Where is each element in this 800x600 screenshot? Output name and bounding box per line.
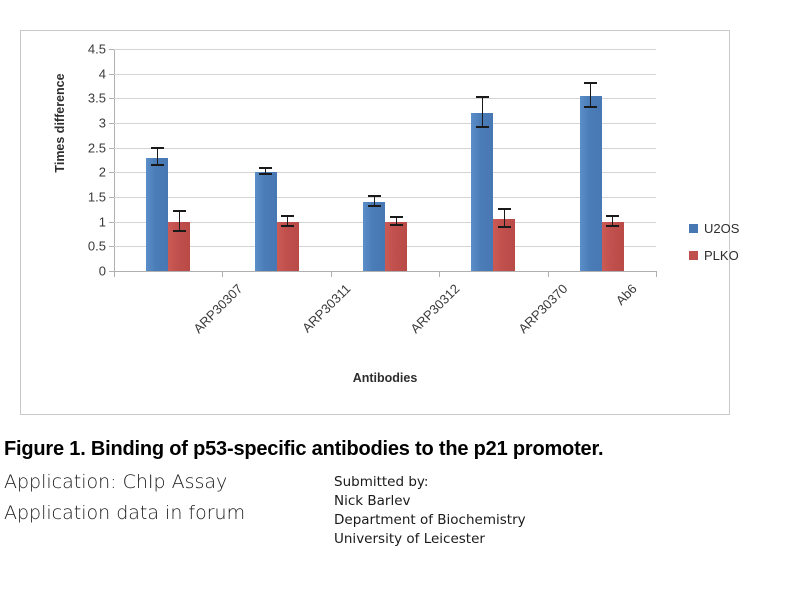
submitter-info: Submitted by: Nick Barlev Department of …: [334, 471, 796, 550]
y-tick-label: 2.5: [88, 141, 106, 154]
x-category-label: ARP30370: [516, 281, 571, 336]
y-tick-mark: [109, 98, 114, 99]
error-bar-cap-top: [281, 215, 294, 217]
y-tick-mark: [109, 172, 114, 173]
caption-block: Figure 1. Binding of p53-specific antibo…: [4, 438, 796, 550]
y-tick-label: 0.5: [88, 240, 106, 253]
x-category-label: ARP30311: [299, 281, 353, 335]
legend-swatch-icon: [689, 224, 698, 233]
y-tick-label: 1: [99, 215, 106, 228]
error-bar-cap-bottom: [259, 173, 272, 175]
plot-area: 00.511.522.533.544.5: [114, 49, 656, 271]
y-axis-title: Times difference: [53, 53, 67, 193]
bar-u2os-ab6[interactable]: [580, 96, 602, 271]
y-tick-mark: [109, 148, 114, 149]
chart-container: Times difference 00.511.522.533.544.5 AR…: [20, 30, 730, 415]
y-tick-label: 1.5: [88, 191, 106, 204]
x-category-label: ARP30312: [407, 281, 462, 336]
gridline: [114, 271, 656, 272]
legend-item[interactable]: PLKO: [689, 248, 739, 262]
error-bar-cap-top: [259, 167, 272, 169]
error-bar-cap-bottom: [390, 224, 403, 226]
x-tick-mark: [439, 271, 440, 277]
bar-group: [146, 49, 190, 271]
error-bar-cap-bottom: [606, 225, 619, 227]
y-tick-label: 3: [99, 117, 106, 130]
submitter-department: Department of Biochemistry: [334, 511, 796, 530]
bar-plko-arp30307[interactable]: [168, 222, 190, 271]
error-bar-cap-top: [498, 208, 511, 210]
error-bar-cap-bottom: [151, 164, 164, 166]
error-bar-cap-top: [584, 82, 597, 84]
error-bar-cap-top: [476, 96, 489, 98]
legend-swatch-icon: [689, 251, 698, 260]
application-line: Application data in forum: [4, 502, 334, 524]
bar-group: [471, 49, 515, 271]
submitter-name: Nick Barlev: [334, 492, 796, 511]
y-tick-mark: [109, 74, 114, 75]
x-tick-mark: [656, 271, 657, 277]
error-bar-cap-top: [151, 147, 164, 149]
bar-group: [363, 49, 407, 271]
error-bar: [482, 98, 483, 128]
x-tick-mark: [548, 271, 549, 277]
x-category-label: ARP30307: [191, 281, 246, 336]
error-bar-cap-bottom: [584, 106, 597, 108]
x-tick-mark: [222, 271, 223, 277]
submitter-institution: University of Leicester: [334, 530, 796, 549]
application-info: Application: ChIp Assay Application data…: [4, 471, 334, 550]
y-tick-label: 2: [99, 166, 106, 179]
error-bar-cap-bottom: [368, 205, 381, 207]
x-tick-mark: [114, 271, 115, 277]
error-bar-cap-bottom: [476, 126, 489, 128]
bar-group: [580, 49, 624, 271]
submitted-by-heading: Submitted by:: [334, 473, 796, 492]
y-tick-mark: [109, 49, 114, 50]
caption-columns: Application: ChIp Assay Application data…: [4, 471, 796, 550]
figure-title: Figure 1. Binding of p53-specific antibo…: [4, 438, 796, 461]
error-bar-cap-top: [173, 210, 186, 212]
error-bar-cap-bottom: [498, 226, 511, 228]
x-category-label: Ab6: [613, 281, 640, 308]
x-axis-title: Antibodies: [114, 371, 656, 385]
legend-label: U2OS: [704, 222, 739, 235]
bar-u2os-arp30307[interactable]: [146, 158, 168, 271]
error-bar-cap-top: [606, 215, 619, 217]
bar-plko-ab6[interactable]: [602, 222, 624, 271]
bar-u2os-arp30370[interactable]: [471, 113, 493, 271]
bar-group: [255, 49, 299, 271]
y-tick-mark: [109, 197, 114, 198]
error-bar-cap-top: [390, 216, 403, 218]
y-tick-mark: [109, 246, 114, 247]
error-bar: [590, 84, 591, 109]
legend-label: PLKO: [704, 249, 739, 262]
bar-plko-arp30370[interactable]: [493, 219, 515, 271]
chart-legend: U2OSPLKO: [689, 221, 739, 275]
x-tick-mark: [331, 271, 332, 277]
y-tick-label: 3.5: [88, 92, 106, 105]
error-bar-cap-top: [368, 195, 381, 197]
bar-plko-arp30312[interactable]: [385, 222, 407, 271]
y-tick-mark: [109, 123, 114, 124]
bar-u2os-arp30312[interactable]: [363, 202, 385, 271]
legend-item[interactable]: U2OS: [689, 221, 739, 235]
bar-plko-arp30311[interactable]: [277, 222, 299, 271]
y-tick-label: 4: [99, 67, 106, 80]
error-bar-cap-bottom: [281, 225, 294, 227]
bar-u2os-arp30311[interactable]: [255, 172, 277, 271]
y-tick-label: 0: [99, 265, 106, 278]
y-tick-label: 4.5: [88, 43, 106, 56]
error-bar-cap-bottom: [173, 230, 186, 232]
application-line: Application: ChIp Assay: [4, 471, 334, 493]
y-tick-mark: [109, 222, 114, 223]
